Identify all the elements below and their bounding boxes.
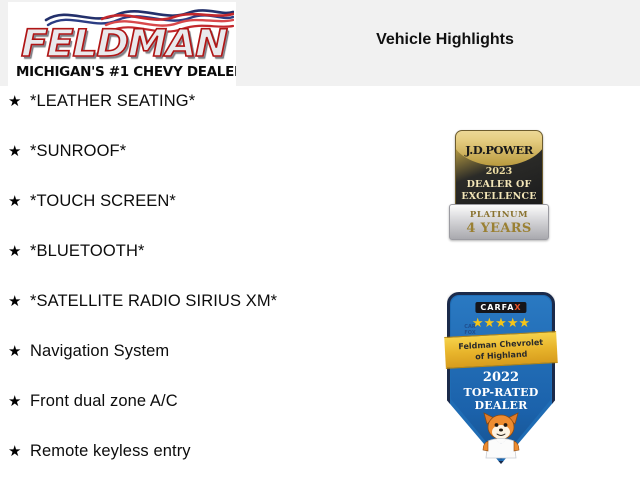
star-bullet-icon: ★	[8, 94, 30, 109]
jd-power-award-badge: J.D.POWER 2023 DEALER OF EXCELLENCE PLAT…	[449, 130, 547, 238]
vehicle-features-list: ★ *LEATHER SEATING* ★ *SUNROOF* ★ *TOUCH…	[0, 92, 430, 480]
list-item: ★ Front dual zone A/C	[0, 392, 430, 442]
carfax-top-rated-dealer-badge: CARFAX ★★★★★ Feldman Chevrolet of Highla…	[447, 292, 555, 464]
list-item: ★ Remote keyless entry	[0, 442, 430, 480]
list-item: ★ *SUNROOF*	[0, 142, 430, 192]
feature-label: Navigation System	[30, 342, 169, 361]
page-header: FELDMAN MICHIGAN'S #1 CHEVY DEALER Vehic…	[0, 0, 640, 86]
list-item: ★ *SATELLITE RADIO SIRIUS XM*	[0, 292, 430, 342]
vehicle-highlights-page: FELDMAN MICHIGAN'S #1 CHEVY DEALER Vehic…	[0, 0, 640, 480]
star-bullet-icon: ★	[8, 244, 30, 259]
car-fox-mascot-icon	[478, 410, 524, 460]
feature-label: *SATELLITE RADIO SIRIUS XM*	[30, 292, 277, 311]
list-item: ★ Navigation System	[0, 342, 430, 392]
page-title: Vehicle Highlights	[300, 31, 590, 49]
jd-power-brand: J.D.POWER	[456, 143, 542, 157]
feature-label: *TOUCH SCREEN*	[30, 192, 176, 211]
jd-power-year: 2023	[456, 166, 542, 177]
feature-label: Front dual zone A/C	[30, 392, 178, 411]
feature-label: Remote keyless entry	[30, 442, 191, 461]
star-bullet-icon: ★	[8, 194, 30, 209]
carfax-award-line1: TOP-RATED	[447, 386, 555, 399]
feature-label: *BLUETOOTH*	[30, 242, 145, 261]
star-bullet-icon: ★	[8, 294, 30, 309]
logo-wordmark: FELDMAN	[10, 24, 236, 64]
list-item: ★ *LEATHER SEATING*	[0, 92, 430, 142]
star-bullet-icon: ★	[8, 144, 30, 159]
jd-power-base: PLATINUM 4 YEARS	[449, 204, 549, 240]
carfax-dealer-ribbon: Feldman Chevrolet of Highland	[444, 331, 558, 369]
star-bullet-icon: ★	[8, 394, 30, 409]
feature-label: *SUNROOF*	[30, 142, 126, 161]
jd-power-award-line2: EXCELLENCE	[456, 191, 542, 202]
star-bullet-icon: ★	[8, 444, 30, 459]
dealer-logo[interactable]: FELDMAN MICHIGAN'S #1 CHEVY DEALER	[8, 2, 236, 86]
jd-power-tier: PLATINUM	[450, 210, 548, 220]
list-item: ★ *TOUCH SCREEN*	[0, 192, 430, 242]
carfox-shirt-text: CAR FOX	[447, 325, 493, 336]
list-item: ★ *BLUETOOTH*	[0, 242, 430, 292]
carfax-award-year: 2022	[447, 370, 555, 385]
logo-tagline: MICHIGAN'S #1 CHEVY DEALER	[16, 64, 232, 80]
carfax-logo: CARFAX	[475, 302, 526, 313]
carfox-shirt-line2: FOX	[464, 330, 475, 336]
jd-power-award-line1: DEALER OF	[456, 179, 542, 190]
feature-label: *LEATHER SEATING*	[30, 92, 195, 111]
jd-power-duration: 4 YEARS	[450, 221, 548, 236]
carfax-logo-text: CARFA	[480, 303, 514, 312]
star-bullet-icon: ★	[8, 344, 30, 359]
carfax-logo-accent-letter: X	[514, 303, 521, 312]
